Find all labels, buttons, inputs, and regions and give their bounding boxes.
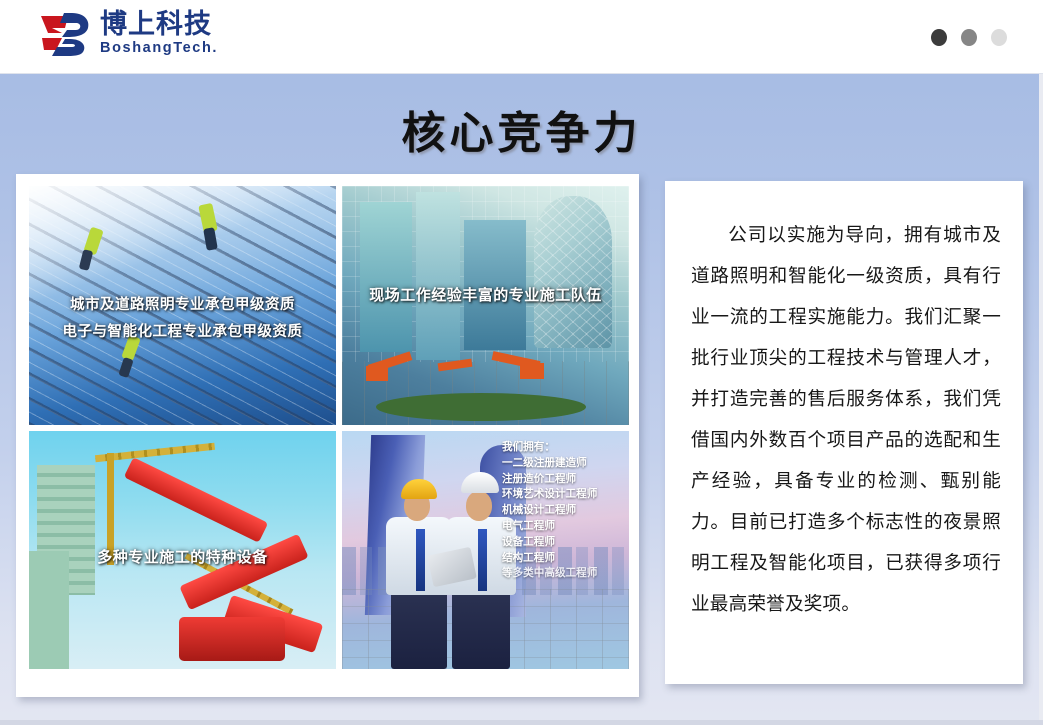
trousers xyxy=(452,591,511,669)
necktie xyxy=(416,529,425,591)
competency-photo-card: 城市及道路照明专业承包甲级资质 电子与智能化工程专业承包甲级资质 xyxy=(16,174,639,697)
brand-logo[interactable]: 博上科技 BoshangTech. xyxy=(38,10,218,58)
brand-name-en: BoshangTech. xyxy=(100,40,218,57)
dot-2-icon[interactable] xyxy=(961,29,977,46)
qualification-list-item: 机械设计工程师 xyxy=(502,503,629,519)
boshang-logo-mark xyxy=(38,10,92,58)
qualification-list-heading: 我们拥有： xyxy=(502,440,629,456)
photo-caption-line: 多种专业施工的特种设备 xyxy=(29,546,336,567)
photo-caption: 多种专业施工的特种设备 xyxy=(29,546,336,567)
lawn-patch xyxy=(376,393,586,421)
photo-caption-line: 电子与智能化工程专业承包甲级资质 xyxy=(29,319,336,346)
photo-caption-line: 现场工作经验丰富的专业施工队伍 xyxy=(342,284,629,305)
photo-glass-facade[interactable]: 城市及道路照明专业承包甲级资质 电子与智能化工程专业承包甲级资质 xyxy=(29,186,336,425)
head xyxy=(466,491,492,521)
photo-caption: 城市及道路照明专业承包甲级资质 电子与智能化工程专业承包甲级资质 xyxy=(29,292,336,346)
cherry-picker-arm-icon xyxy=(124,457,268,543)
worker-figure-icon xyxy=(203,227,218,251)
dome-building-icon xyxy=(534,196,612,348)
company-description-card: 公司以实施为导向，拥有城市及道路照明和智能化一级资质，具有行业一流的工程实施能力… xyxy=(665,181,1023,684)
qualification-list-item: 环境艺术设计工程师 xyxy=(502,487,629,503)
boom-lift-icon xyxy=(366,366,388,381)
qualification-list-item: 结构工程师 xyxy=(502,551,629,567)
qualification-list-item: 等多类中高级工程师 xyxy=(502,566,629,582)
cherry-picker-body-icon xyxy=(179,617,285,661)
building-icon xyxy=(360,202,412,352)
boom-lift-icon xyxy=(520,363,544,379)
brand-name-cn: 博上科技 xyxy=(100,11,218,39)
photo-special-equipment[interactable]: 多种专业施工的特种设备 xyxy=(29,431,336,669)
necktie xyxy=(478,529,487,591)
qualification-list-item: 一二级注册建造师 xyxy=(502,456,629,472)
qualification-list: 我们拥有： 一二级注册建造师 注册造价工程师 环境艺术设计工程师 机械设计工程师… xyxy=(502,440,629,582)
photo-grid: 城市及道路照明专业承包甲级资质 电子与智能化工程专业承包甲级资质 xyxy=(29,186,626,669)
qualification-list-item: 注册造价工程师 xyxy=(502,472,629,488)
worker-figure-icon xyxy=(118,357,133,378)
building-icon xyxy=(416,192,460,360)
building-icon xyxy=(29,551,69,669)
photo-engineers[interactable]: 我们拥有： 一二级注册建造师 注册造价工程师 环境艺术设计工程师 机械设计工程师… xyxy=(342,431,629,669)
slide-edge-bottom xyxy=(0,720,1043,725)
trousers xyxy=(391,591,446,669)
hard-hat-icon xyxy=(461,472,499,493)
page-title: 核心竞争力 xyxy=(0,97,1043,161)
progress-dots[interactable] xyxy=(931,29,1007,46)
qualification-list-item: 电气工程师 xyxy=(502,519,629,535)
brand-logo-text: 博上科技 BoshangTech. xyxy=(100,11,218,58)
slide-background: 城市及道路照明专业承包甲级资质 电子与智能化工程专业承包甲级资质 xyxy=(0,0,1043,725)
worker-figure-icon xyxy=(79,249,94,271)
hard-hat-icon xyxy=(401,479,437,499)
dot-1-icon[interactable] xyxy=(931,29,947,46)
dot-3-icon[interactable] xyxy=(991,29,1007,46)
photo-caption-line: 城市及道路照明专业承包甲级资质 xyxy=(29,292,336,319)
app-header: 博上科技 BoshangTech. xyxy=(0,0,1043,74)
company-description-text: 公司以实施为导向，拥有城市及道路照明和智能化一级资质，具有行业一流的工程实施能力… xyxy=(691,215,1001,625)
photo-caption: 现场工作经验丰富的专业施工队伍 xyxy=(342,284,629,305)
photo-construction-site[interactable]: 现场工作经验丰富的专业施工队伍 xyxy=(342,186,629,425)
qualification-list-item: 设备工程师 xyxy=(502,535,629,551)
